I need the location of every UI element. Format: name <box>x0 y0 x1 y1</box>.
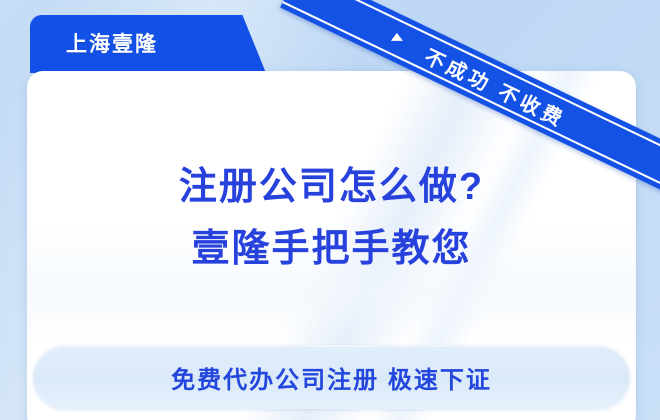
cta-label: 免费代办公司注册 极速下证 <box>171 360 492 395</box>
triangle-up-icon <box>391 33 403 41</box>
brand-tab-label: 上海壹隆 <box>66 28 158 58</box>
headline-line-2: 壹隆手把手教您 <box>27 218 636 280</box>
headline-block: 注册公司怎么做? 壹隆手把手教您 <box>27 156 636 280</box>
cta-pill[interactable]: 免费代办公司注册 极速下证 <box>33 345 630 409</box>
headline-line-1: 注册公司怎么做? <box>27 156 636 218</box>
promo-banner: 上海壹隆 注册公司怎么做? 壹隆手把手教您 免费代办公司注册 极速下证 不成功 … <box>0 0 660 420</box>
brand-tab[interactable]: 上海壹隆 <box>30 15 266 73</box>
